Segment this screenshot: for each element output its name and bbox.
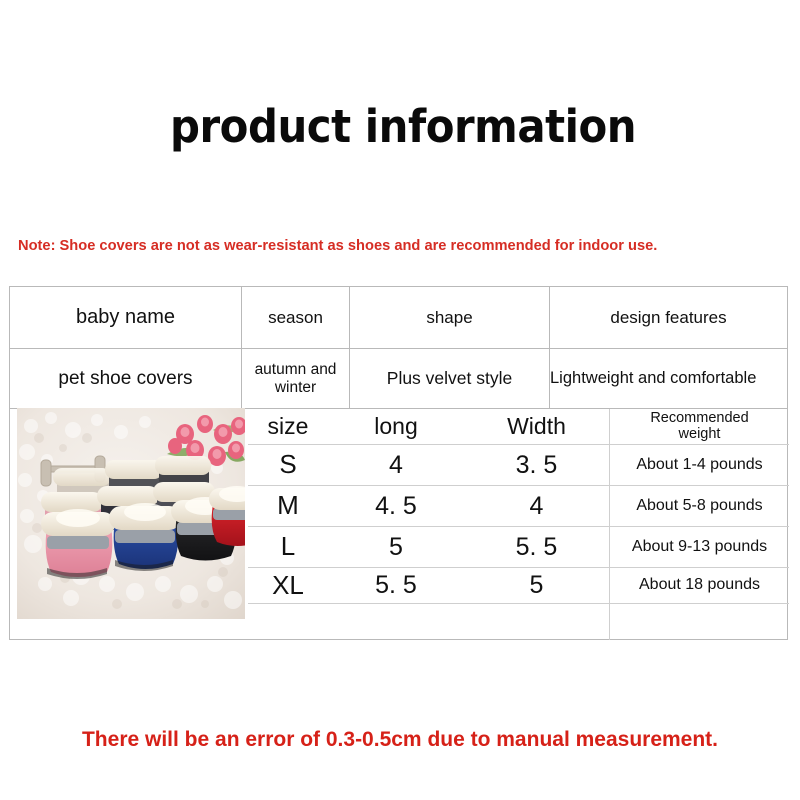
product-photo-illustration <box>17 408 245 619</box>
spec-header-baby-name: baby name <box>10 287 242 348</box>
size-cell-weight: About 1-4 pounds <box>609 445 789 485</box>
table-row: XL 5. 5 5 About 18 pounds <box>248 568 789 604</box>
spec-value-baby-name: pet shoe covers <box>10 349 242 408</box>
spec-value-season: autumn and winter <box>242 349 350 408</box>
size-cell-width: 4 <box>464 486 609 526</box>
size-cell-size: M <box>248 486 328 526</box>
spec-header-design-features: design features <box>550 287 787 348</box>
size-cell-long: 4. 5 <box>328 486 464 526</box>
size-header-rec-line1: Recommended <box>650 411 748 427</box>
note-indoor-use: Note: Shoe covers are not as wear-resist… <box>18 236 657 256</box>
size-cell-width: 3. 5 <box>464 445 609 485</box>
size-cell-size: S <box>248 445 328 485</box>
shoe-pink <box>41 509 115 579</box>
size-table-empty-row <box>248 604 789 640</box>
size-cell-long: 4 <box>328 445 464 485</box>
size-cell-weight: About 5-8 pounds <box>609 486 789 526</box>
empty-cell <box>464 604 609 640</box>
spec-value-design-features: Lightweight and comfortable <box>550 349 787 408</box>
spec-value-shape: Plus velvet style <box>350 349 550 408</box>
size-cell-width: 5 <box>464 568 609 603</box>
empty-cell <box>248 604 328 640</box>
size-header-long: long <box>328 409 464 444</box>
size-cell-weight: About 18 pounds <box>609 568 789 603</box>
size-header-size: size <box>248 409 328 444</box>
spec-header-season: season <box>242 287 350 348</box>
size-header-rec-line2: weight <box>679 427 721 443</box>
size-header-row: size long Width Recommended weight <box>248 409 789 445</box>
shoe-blue <box>109 503 181 571</box>
size-header-recommended-weight: Recommended weight <box>609 409 789 444</box>
size-cell-width: 5. 5 <box>464 527 609 567</box>
table-row: S 4 3. 5 About 1-4 pounds <box>248 445 789 486</box>
empty-cell <box>328 604 464 640</box>
size-cell-long: 5 <box>328 527 464 567</box>
table-row: L 5 5. 5 About 9-13 pounds <box>248 527 789 568</box>
note-measurement-error: There will be an error of 0.3-0.5cm due … <box>0 726 800 754</box>
empty-cell <box>609 604 789 640</box>
size-cell-long: 5. 5 <box>328 568 464 603</box>
size-header-width: Width <box>464 409 609 444</box>
table-row: M 4. 5 4 About 5-8 pounds <box>248 486 789 527</box>
page-title: product information <box>170 101 636 153</box>
size-cell-weight: About 9-13 pounds <box>609 527 789 567</box>
size-cell-size: L <box>248 527 328 567</box>
spec-value-row: pet shoe covers autumn and winter Plus v… <box>10 349 787 409</box>
size-cell-size: XL <box>248 568 328 603</box>
spec-header-shape: shape <box>350 287 550 348</box>
spec-header-row: baby name season shape design features <box>10 287 787 349</box>
product-photo <box>17 408 245 619</box>
